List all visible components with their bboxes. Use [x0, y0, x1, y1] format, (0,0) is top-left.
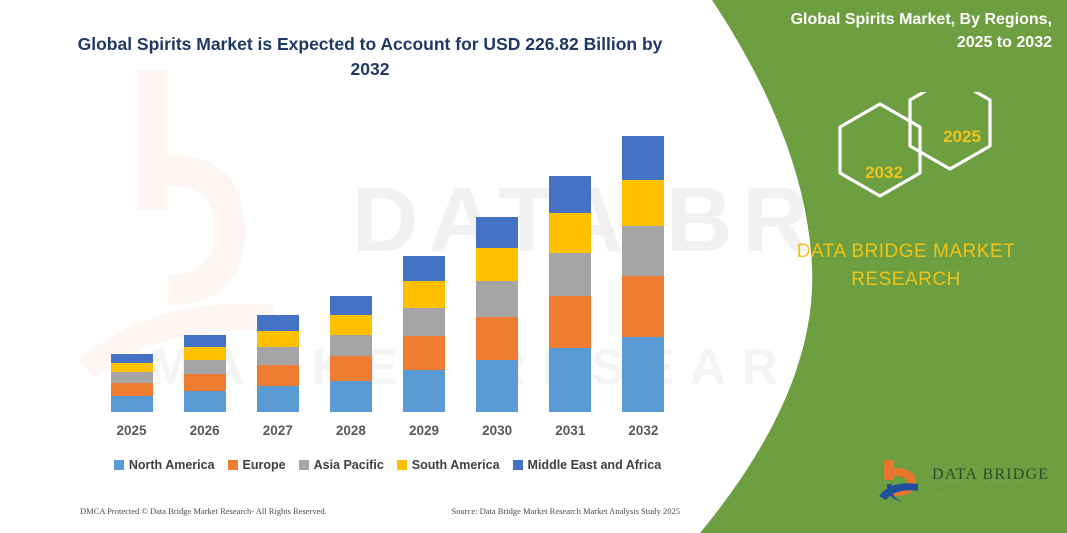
- logo-mark-icon: [878, 458, 928, 504]
- legend-label: Middle East and Africa: [528, 458, 662, 472]
- x-axis-tick-2032: 2032: [607, 423, 679, 438]
- bar-column-2029: [388, 120, 460, 412]
- footer-copyright: DMCA Protected © Data Bridge Market Rese…: [80, 506, 327, 516]
- bar-column-2032: [607, 120, 679, 412]
- chart-panel: Global Spirits Market is Expected to Acc…: [0, 0, 740, 533]
- legend-swatch-icon: [513, 460, 523, 470]
- x-axis-tick-2029: 2029: [388, 423, 460, 438]
- bar-segment: [111, 354, 153, 363]
- infographic-canvas: DATA BRIDGE MARKET RESEARCH Global Spiri…: [0, 0, 1067, 533]
- bar-segment: [549, 253, 591, 296]
- x-axis-labels: 20252026202720282029203020312032: [95, 418, 680, 442]
- x-axis-tick-2027: 2027: [242, 423, 314, 438]
- stacked-bar: [257, 315, 299, 412]
- bar-segment: [184, 391, 226, 412]
- legend-swatch-icon: [228, 460, 238, 470]
- bar-segment: [111, 363, 153, 373]
- bar-segment: [549, 296, 591, 348]
- plot-area: [95, 120, 680, 412]
- footer: DMCA Protected © Data Bridge Market Rese…: [80, 506, 680, 516]
- footer-source: Source: Data Bridge Market Research Mark…: [451, 506, 680, 516]
- bar-segment: [622, 226, 664, 276]
- x-axis-tick-2031: 2031: [534, 423, 606, 438]
- bar-group: [95, 120, 680, 412]
- bar-column-2027: [242, 120, 314, 412]
- bar-segment: [476, 360, 518, 412]
- bar-segment: [622, 180, 664, 226]
- legend-label: Europe: [243, 458, 286, 472]
- bar-segment: [257, 386, 299, 412]
- bar-segment: [403, 308, 445, 337]
- logo-subtitle: MARKET RESEARCH: [934, 485, 1044, 492]
- legend-item: Asia Pacific: [299, 458, 384, 472]
- hexagon-2025-label: 2025: [922, 127, 1002, 147]
- stacked-bar: [476, 217, 518, 412]
- stacked-bar: [403, 256, 445, 412]
- legend-item: Middle East and Africa: [513, 458, 662, 472]
- legend-swatch-icon: [114, 460, 124, 470]
- bar-segment: [257, 315, 299, 331]
- bar-segment: [403, 256, 445, 281]
- bar-segment: [111, 396, 153, 412]
- stacked-bar: [111, 354, 153, 412]
- bar-segment: [622, 276, 664, 337]
- bar-segment: [111, 372, 153, 383]
- legend-item: Europe: [228, 458, 286, 472]
- stacked-bar: [330, 296, 372, 412]
- bar-column-2026: [169, 120, 241, 412]
- x-axis-tick-2025: 2025: [96, 423, 168, 438]
- bar-column-2025: [96, 120, 168, 412]
- chart-legend: North AmericaEuropeAsia PacificSouth Ame…: [95, 454, 680, 476]
- bar-segment: [330, 296, 372, 315]
- bar-segment: [476, 248, 518, 281]
- page-title: Global Spirits Market is Expected to Acc…: [60, 32, 680, 83]
- hexagon-2032-label: 2032: [844, 163, 924, 183]
- panel-title: Global Spirits Market, By Regions, 2025 …: [760, 8, 1052, 54]
- bar-segment: [257, 365, 299, 386]
- legend-label: South America: [412, 458, 500, 472]
- bar-segment: [184, 374, 226, 391]
- bar-segment: [111, 383, 153, 396]
- stacked-bar: [622, 136, 664, 412]
- legend-item: North America: [114, 458, 215, 472]
- legend-label: Asia Pacific: [314, 458, 384, 472]
- bar-segment: [622, 337, 664, 412]
- bar-segment: [330, 356, 372, 382]
- legend-swatch-icon: [397, 460, 407, 470]
- legend-label: North America: [129, 458, 215, 472]
- bar-column-2030: [461, 120, 533, 412]
- bar-column-2028: [315, 120, 387, 412]
- bar-segment: [403, 336, 445, 370]
- bar-segment: [549, 213, 591, 252]
- green-panel-content: Global Spirits Market, By Regions, 2025 …: [740, 0, 1067, 533]
- company-logo: DATA BRIDGE MARKET RESEARCH: [878, 458, 1058, 508]
- hexagon-badges: [740, 92, 1067, 222]
- bar-segment: [403, 281, 445, 307]
- logo-title: DATA BRIDGE: [932, 466, 1049, 484]
- bar-segment: [330, 381, 372, 412]
- stacked-bar: [549, 176, 591, 412]
- bar-segment: [476, 281, 518, 317]
- x-axis-tick-2028: 2028: [315, 423, 387, 438]
- bar-segment: [622, 136, 664, 180]
- bar-segment: [330, 315, 372, 334]
- bar-segment: [330, 335, 372, 356]
- legend-item: South America: [397, 458, 500, 472]
- bar-segment: [257, 347, 299, 365]
- x-axis-tick-2026: 2026: [169, 423, 241, 438]
- bar-segment: [549, 176, 591, 214]
- bar-segment: [184, 335, 226, 347]
- bar-segment: [184, 347, 226, 360]
- brand-name: DATA BRIDGE MARKET RESEARCH: [760, 238, 1052, 293]
- bar-segment: [184, 360, 226, 374]
- bar-segment: [403, 370, 445, 412]
- legend-swatch-icon: [299, 460, 309, 470]
- bar-column-2031: [534, 120, 606, 412]
- stacked-bar: [184, 335, 226, 412]
- x-axis-tick-2030: 2030: [461, 423, 533, 438]
- bar-segment: [257, 331, 299, 347]
- bar-segment: [476, 317, 518, 360]
- bar-segment: [476, 217, 518, 249]
- bar-segment: [549, 348, 591, 412]
